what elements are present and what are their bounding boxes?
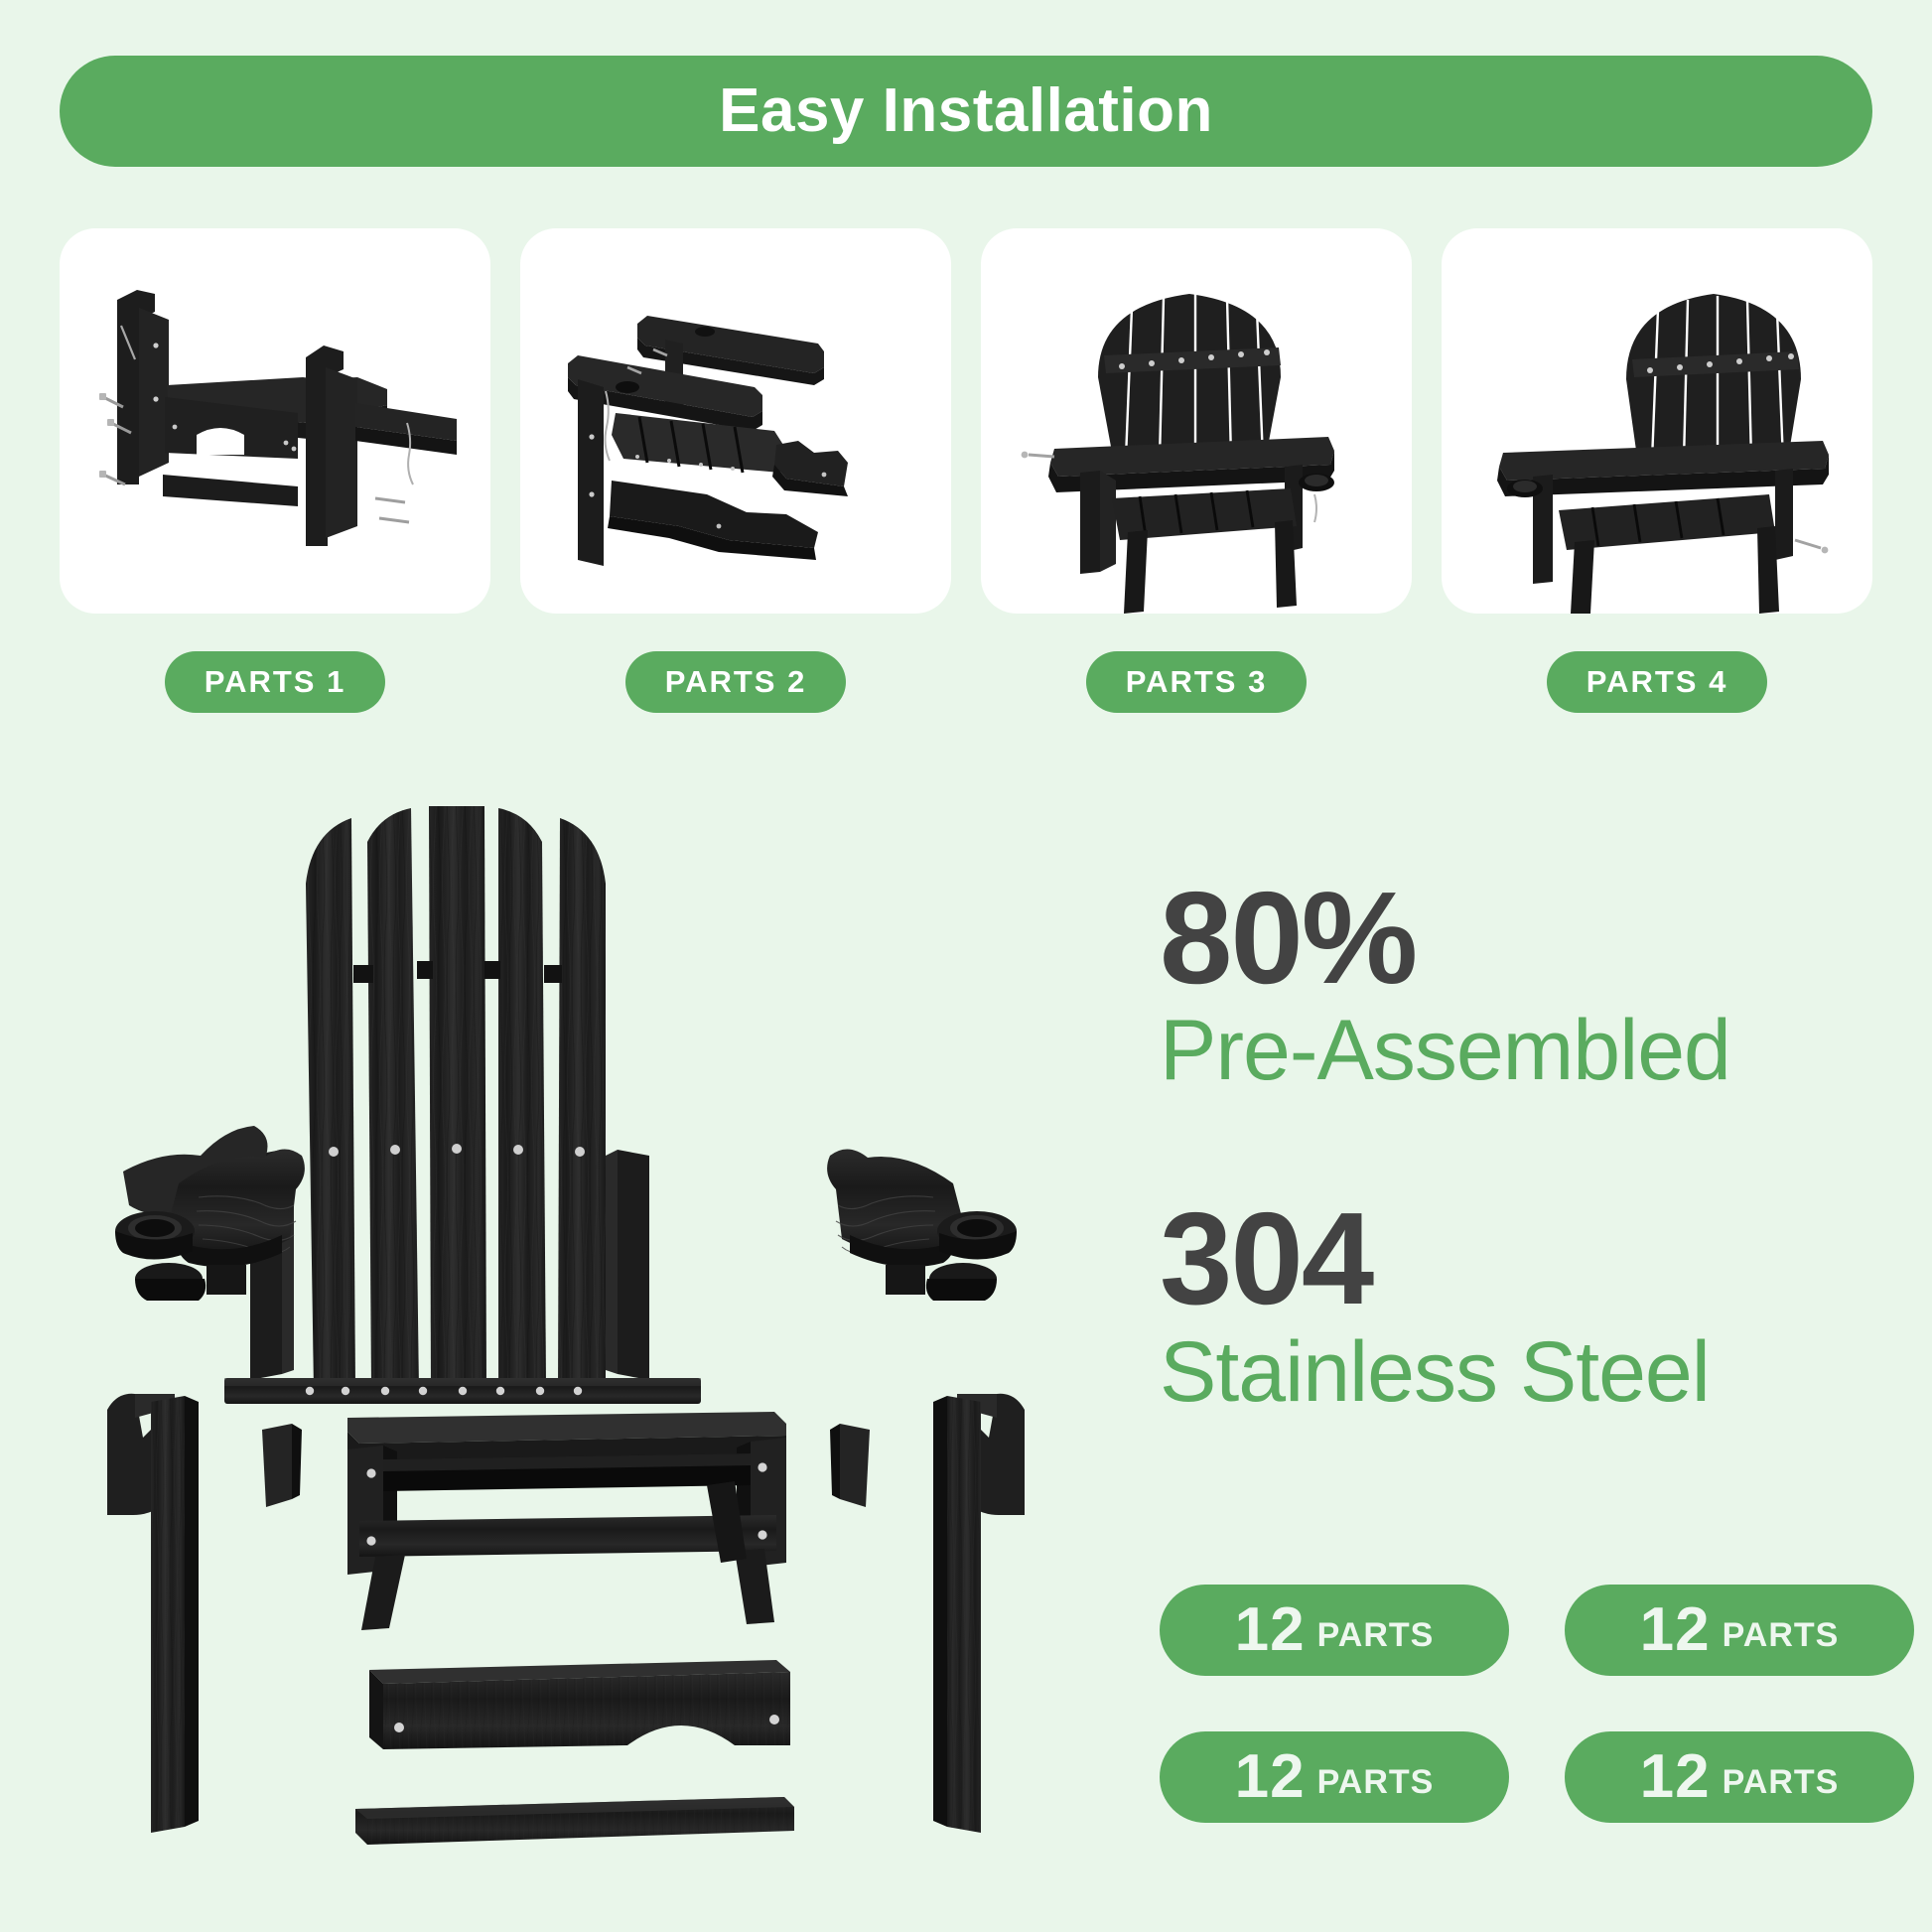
part-card-1[interactable] [60,228,490,614]
right-spacer-block [830,1424,870,1507]
left-spacer-block [262,1424,302,1507]
part-count-number-3: 12 [1235,1746,1306,1808]
stat-label-pre-assembled: Pre-Assembled [1160,1008,1894,1093]
part-card-4[interactable] [1442,228,1872,614]
part-card-3[interactable] [981,228,1412,614]
front-seat-skirt-panel [369,1660,790,1749]
stat-block-pre-assembled: 80% Pre-Assembled [1160,874,1894,1093]
chair-base-frame-with-screws-exploded-icon [60,228,490,614]
stat-number-304: 304 [1160,1194,1894,1322]
infographic-page: Easy Installation [0,0,1932,1932]
parts-badge-1[interactable]: PARTS 1 [165,651,386,713]
part-count-unit-4: PARTS [1723,1755,1840,1799]
part-count-badge-4[interactable]: 12 PARTS [1565,1731,1914,1823]
assembled-adirondack-chair-rear-left-view-icon [981,228,1412,614]
parts-badge-4[interactable]: PARTS 4 [1547,651,1768,713]
badge-slot-4: PARTS 4 [1442,651,1872,713]
part-cards-row [60,228,1872,614]
part-count-grid: 12 PARTS 12 PARTS 12 PARTS 12 PARTS [1160,1585,1914,1823]
part-count-number-1: 12 [1235,1599,1306,1661]
badge-slot-2: PARTS 2 [520,651,951,713]
exploded-diagram-svg [40,735,1092,1896]
right-armrest-with-cup-holder [827,1149,1017,1301]
badge-slot-3: PARTS 3 [981,651,1412,713]
part-count-unit-3: PARTS [1317,1755,1435,1799]
assembled-adirondack-chair-rear-right-view-icon [1442,228,1872,614]
header-banner: Easy Installation [60,56,1872,167]
adirondack-chair-exploded-parts-diagram [40,735,1092,1896]
page-title: Easy Installation [719,80,1213,142]
left-leg-support [107,1394,199,1833]
parts-badge-2[interactable]: PARTS 2 [625,651,847,713]
part-count-unit-2: PARTS [1723,1608,1840,1652]
backrest-slat-panel [224,806,701,1404]
part-card-2[interactable] [520,228,951,614]
part-count-number-4: 12 [1640,1746,1711,1808]
part-count-badge-3[interactable]: 12 PARTS [1160,1731,1509,1823]
seat-frame-assembly [347,1412,786,1630]
stat-number-80-percent: 80% [1160,874,1894,1002]
part-count-badge-1[interactable]: 12 PARTS [1160,1585,1509,1676]
stats-column: 80% Pre-Assembled 304 Stainless Steel [1160,874,1894,1516]
stat-block-stainless-steel: 304 Stainless Steel [1160,1194,1894,1414]
badge-slot-1: PARTS 1 [60,651,490,713]
parts-badge-3[interactable]: PARTS 3 [1086,651,1308,713]
part-count-badge-2[interactable]: 12 PARTS [1565,1585,1914,1676]
right-leg-support [933,1394,1025,1833]
part-count-number-2: 12 [1640,1599,1711,1661]
parts-badges-row: PARTS 1 PARTS 2 PARTS 3 PARTS 4 [60,651,1872,713]
part-count-unit-1: PARTS [1317,1608,1435,1652]
stat-label-stainless-steel: Stainless Steel [1160,1329,1894,1415]
rear-cross-slat [355,1797,794,1845]
chair-armrests-and-seat-slats-exploded-icon [520,228,951,614]
